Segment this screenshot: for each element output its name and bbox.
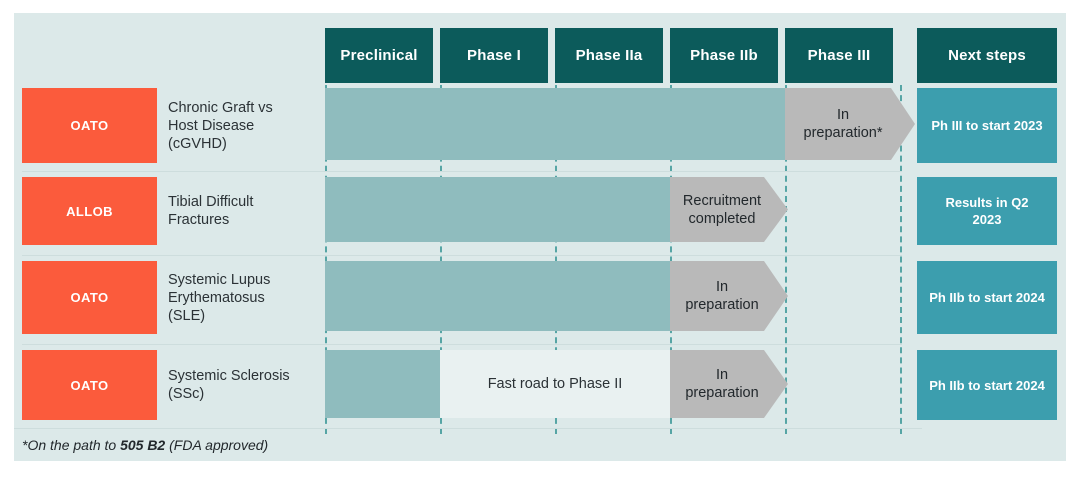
product-badge-allob[interactable]: ALLOB xyxy=(22,177,157,245)
indication-label-ssc: Systemic Sclerosis (SSc) xyxy=(168,350,318,420)
pipeline-chart: Preclinical Phase I Phase IIa Phase IIb … xyxy=(0,0,1080,482)
next-step-sle[interactable]: Ph IIb to start 2024 xyxy=(917,261,1057,334)
product-badge-oato-3[interactable]: OATO xyxy=(22,350,157,420)
header-cell-phase-i[interactable]: Phase I xyxy=(440,28,548,83)
milestone-arrow-sle: In preparation xyxy=(670,261,788,331)
progress-bar-tibial xyxy=(325,177,670,242)
footnote-bold-term: 505 B2 xyxy=(120,437,165,453)
header-cell-preclinical[interactable]: Preclinical xyxy=(325,28,433,83)
progress-bar-cgvhd xyxy=(325,88,785,160)
indication-label-cgvhd: Chronic Graft vs Host Disease (cGVHD) xyxy=(168,88,318,163)
next-step-tibial[interactable]: Results in Q2 2023 xyxy=(917,177,1057,245)
indication-label-tibial: Tibial Difficult Fractures xyxy=(168,177,318,245)
header-cell-phase-iia[interactable]: Phase IIa xyxy=(555,28,663,83)
milestone-arrow-ssc: In preparation xyxy=(670,350,788,418)
header-cell-phase-iib[interactable]: Phase IIb xyxy=(670,28,778,83)
footnote: *On the path to 505 B2 (FDA approved) xyxy=(22,437,352,453)
progress-bar-ssc xyxy=(325,350,440,418)
footnote-divider xyxy=(14,428,922,429)
header-cell-next-steps[interactable]: Next steps xyxy=(917,28,1057,83)
indication-label-sle: Systemic Lupus Erythematosus (SLE) xyxy=(168,261,318,334)
row-divider-3 xyxy=(22,344,902,345)
row-divider-1 xyxy=(22,171,902,172)
footnote-prefix: *On the path to xyxy=(22,437,120,453)
progress-bar-sle xyxy=(325,261,670,331)
product-badge-oato-2[interactable]: OATO xyxy=(22,261,157,334)
fast-road-note-ssc: Fast road to Phase II xyxy=(440,350,670,418)
next-step-ssc[interactable]: Ph IIb to start 2024 xyxy=(917,350,1057,420)
milestone-arrow-cgvhd: In preparation* xyxy=(785,88,915,160)
next-step-cgvhd[interactable]: Ph III to start 2023 xyxy=(917,88,1057,163)
footnote-suffix: (FDA approved) xyxy=(165,437,268,453)
row-divider-2 xyxy=(22,255,902,256)
product-badge-oato-1[interactable]: OATO xyxy=(22,88,157,163)
milestone-arrow-tibial: Recruitment completed xyxy=(670,177,788,242)
header-cell-phase-iii[interactable]: Phase III xyxy=(785,28,893,83)
